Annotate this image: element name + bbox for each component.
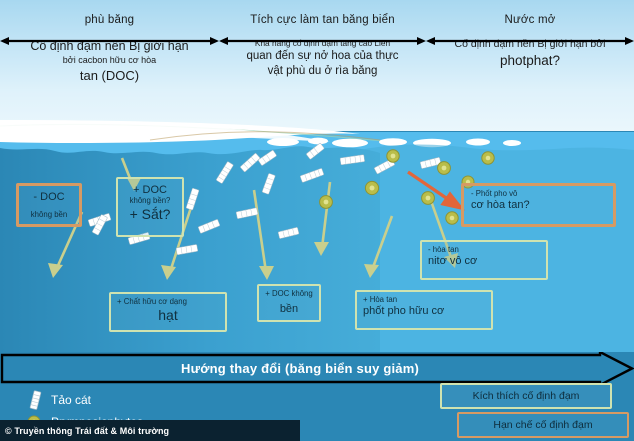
callout-dissolved-organic-phosphorus[interactable]: + Hòa tan phốt pho hữu cơ [355,290,493,330]
callout-title: phốt pho hữu cơ [363,305,485,318]
header-column-active-melt: Tích cực làm tan băng biển Khả năng cố đ… [219,0,426,131]
callout-dissolved-inorganic-phosphorus[interactable]: - Phốt pho vô cơ hòa tan? [461,183,616,227]
callout-title: hạt [117,307,219,324]
legend-item-diatom: Tảo cát [28,390,91,410]
callout-title: - DOC [23,191,75,204]
callout-subtitle: - hòa tan [428,246,540,255]
callout-dissolved-inorganic-nitrogen[interactable]: - hòa tan nitơ vô cơ [420,240,548,280]
legend-key-label: Hạn chế cố định đạm [493,419,592,431]
zone-label-ice-covered: phù băng [0,14,219,26]
zone-label-active-melt: Tích cực làm tan băng biển [219,14,426,26]
diagram-canvas: phù băng Cố định đạm nền Bị giới hạn bởi… [0,0,634,441]
callout-subtitle: không bền [23,211,75,220]
legend-key-limits[interactable]: Hạn chế cố định đạm [457,412,629,438]
callout-doc-iron[interactable]: + DOC không bền? + Sắt? [116,177,184,237]
axis-arrow-ice-covered [0,36,219,46]
diatom-rod-icon [28,390,42,410]
banner-label: Hướng thay đổi (băng biển suy giảm) [0,352,600,385]
header-line-2: quan đến sự nở hoa của thực [225,49,420,64]
callout-title: cơ hòa tan? [471,199,606,212]
legend-key-stimulates[interactable]: Kích thích cố định đạm [440,383,612,409]
header-line-3: vật phù du ở rìa băng [225,64,420,79]
callout-line-2: không bền? [122,197,178,206]
callout-line-2: bền [262,303,316,316]
axis-arrow-open-water [426,36,634,46]
header-line-3: tan (DOC) [6,67,213,84]
direction-of-change-banner: Hướng thay đổi (băng biển suy giảm) [0,352,634,385]
callout-line-1: + DOC không [262,290,316,299]
axis-arrow-active-melt [219,36,426,46]
callout-subtitle: - Phốt pho vô [471,190,606,199]
header-column-ice-covered: phù băng Cố định đạm nền Bị giới hạn bởi… [0,0,219,131]
callout-particulate-organic[interactable]: + Chất hữu cơ dạng hạt [109,292,227,332]
credit-bar: © Truyền thông Trái đất & Môi trường [0,420,300,441]
header-line-2: photphat? [432,52,628,70]
header-line-2: bởi cacbon hữu cơ hòa [6,55,213,67]
zone-label-open-water: Nước mở [426,14,634,26]
legend-key-label: Kích thích cố định đạm [473,390,580,402]
legend-label: Tảo cát [51,393,91,407]
header-column-open-water: Nước mở Cố định đạm nền Bị giới hạn bởi … [426,0,634,131]
callout-subtitle: + Hòa tan [363,296,485,305]
callout-doc-labile[interactable]: + DOC không bền [257,284,321,322]
callout-doc-depleted[interactable]: - DOC không bền [16,183,82,227]
callout-line-3: + Sắt? [122,206,178,223]
callout-subtitle: + Chất hữu cơ dạng [117,298,219,307]
callout-title: nitơ vô cơ [428,255,540,268]
